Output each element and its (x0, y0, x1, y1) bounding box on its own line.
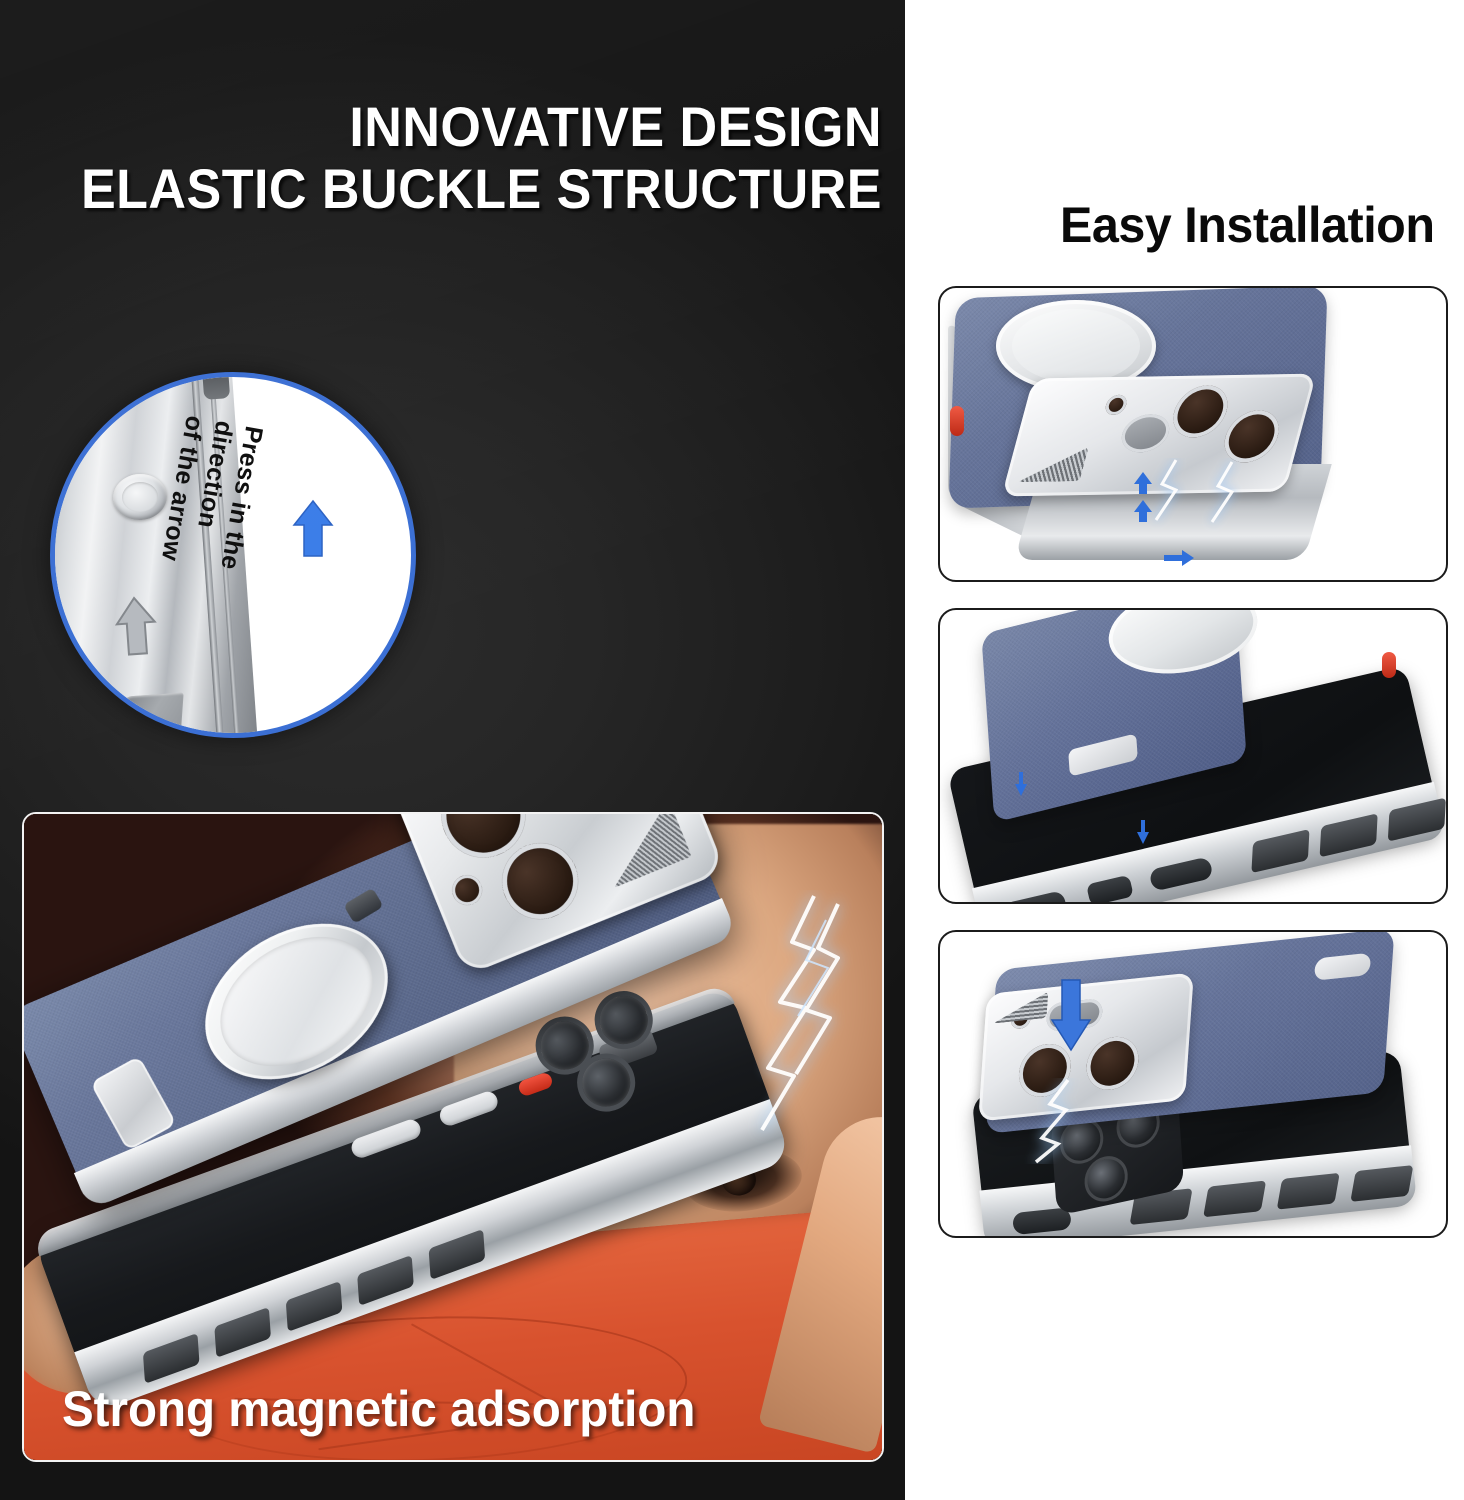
magnetic-spark-effect (1136, 458, 1266, 554)
camera-cutout (1167, 385, 1233, 438)
phone-vent (429, 1229, 486, 1280)
phone-vent (214, 1307, 271, 1358)
phone-vent (286, 1281, 343, 1332)
phone-vent (1350, 1165, 1413, 1202)
speaker-port (1002, 890, 1067, 904)
page-title: INNOVATIVE DESIGN ELASTIC BUCKLE STRUCTU… (63, 96, 895, 220)
phone-vent (1388, 797, 1446, 841)
magnetic-lightning-effect (1022, 1078, 1092, 1164)
easy-installation-title: Easy Installation (921, 196, 1450, 254)
photo-caption: Strong magnetic adsorption (62, 1380, 695, 1438)
arrow-down-icon (1050, 976, 1092, 1052)
usb-c-port (1086, 875, 1134, 904)
camera-cutout (1117, 414, 1173, 453)
phone-vent (1277, 1173, 1340, 1210)
arrow-up-icon (292, 499, 334, 559)
camera-cutout (1219, 410, 1285, 463)
headline-line-2: ELASTIC BUCKLE STRUCTURE (63, 158, 882, 220)
phone-vent (143, 1333, 200, 1384)
camera-cutout (518, 812, 617, 818)
phone-vent (1203, 1181, 1266, 1218)
arrow-right-icon (1162, 548, 1196, 568)
speaker-port (1148, 856, 1213, 891)
speaker-grille (993, 992, 1049, 1024)
arrow-down-icon (1132, 470, 1154, 526)
speaker-grille (1017, 447, 1088, 482)
arrow-down-icon (1014, 770, 1028, 798)
phone-vent (1251, 829, 1309, 873)
case-corner-tab (116, 693, 183, 738)
elastic-buckle-zoom-callout: Press in the direction of the arrow (50, 372, 416, 738)
phone-vent (1320, 813, 1378, 857)
left-dark-section: INNOVATIVE DESIGN ELASTIC BUCKLE STRUCTU… (0, 0, 905, 1500)
action-button (1382, 652, 1396, 678)
flash-cutout (1103, 395, 1128, 415)
case-slot-notch (202, 372, 230, 400)
install-step-2-panel (938, 608, 1448, 904)
speaker-port (1012, 1207, 1072, 1235)
arrow-down-icon (1136, 818, 1150, 846)
speaker-grille (591, 812, 692, 888)
product-feature-graphic: INNOVATIVE DESIGN ELASTIC BUCKLE STRUCTU… (0, 0, 1464, 1500)
camera-cutout (1085, 1034, 1140, 1092)
install-step-1-panel (938, 286, 1448, 582)
main-product-photo: Strong magnetic adsorption (22, 812, 884, 1462)
phone-vent (357, 1255, 414, 1306)
action-button (950, 406, 964, 436)
install-step-3-panel (938, 930, 1448, 1238)
headline-line-1: INNOVATIVE DESIGN (349, 95, 882, 158)
flash-cutout (448, 871, 487, 910)
